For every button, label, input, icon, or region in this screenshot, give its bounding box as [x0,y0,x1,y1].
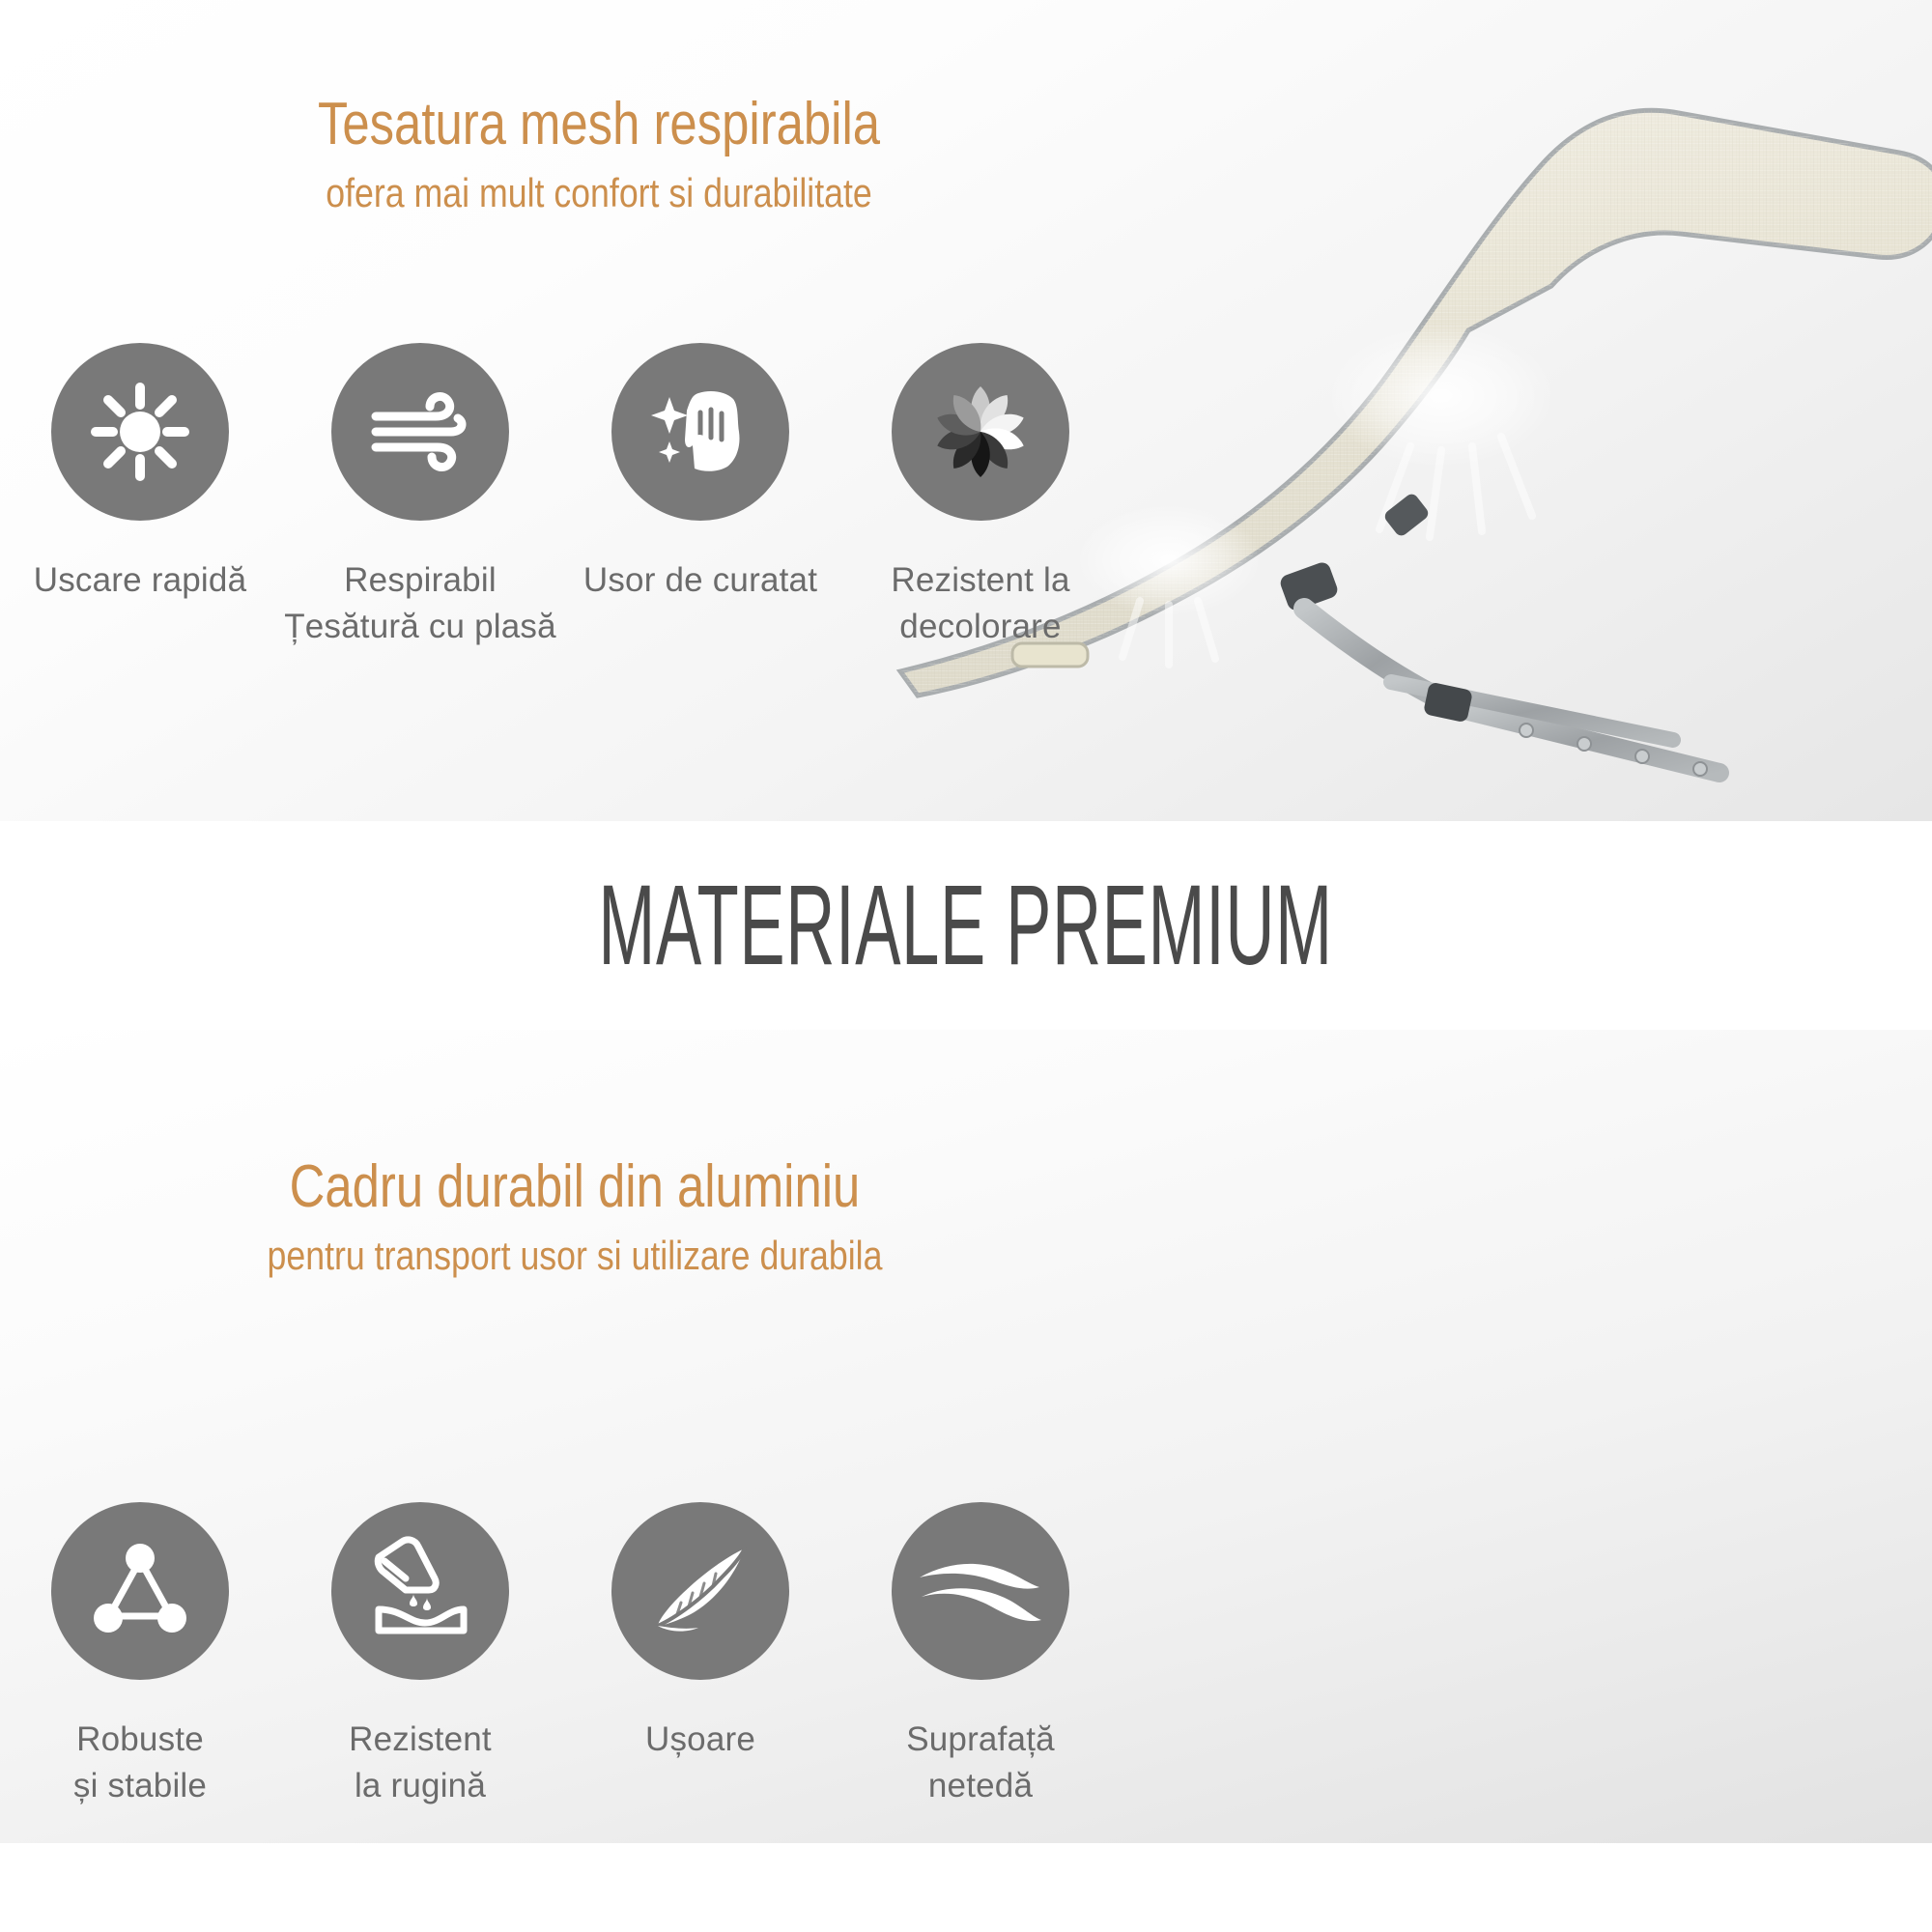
feature-label: Rezistent la decolorare [891,557,1069,649]
feature-label: Ușoare [645,1717,755,1763]
smooth-wave-icon [892,1502,1069,1680]
feather-icon [611,1502,789,1680]
section-fabric: Tesatura mesh respirabila ofera mai mult… [0,0,1932,821]
premium-materials-banner: MATERIALE PREMIUM [0,821,1932,1030]
feature-robuste-si-stabile: Robuste și stabile [0,1502,280,1808]
fabric-feature-row: Uscare rapidă Respirabil Țesătură cu pla… [0,343,1121,649]
sun-icon [51,343,229,521]
feature-respirabil: Respirabil Țesătură cu plasă [280,343,560,649]
fabric-heading-block: Tesatura mesh respirabila ofera mai mult… [0,93,1198,215]
feature-usoare: Ușoare [560,1502,840,1808]
feature-suprafata-neteda: Suprafață netedă [840,1502,1121,1808]
feature-label: Respirabil Țesătură cu plasă [284,557,556,649]
feature-usor-de-curatat: Usor de curatat [560,343,840,649]
infographic-canvas: Tesatura mesh respirabila ofera mai mult… [0,0,1932,1932]
frame-feature-row: Robuste și stabile Rezistent la rugină [0,1502,1121,1808]
feature-rezistent-la-decolorare: Rezistent la decolorare [840,343,1121,649]
fabric-title: Tesatura mesh respirabila [108,93,1091,157]
feature-label: Usor de curatat [583,557,817,604]
test-tube-drip-icon [331,1502,509,1680]
color-wheel-icon [892,343,1069,521]
hand-wipe-icon [611,343,789,521]
frame-title: Cadru durabil din aluminiu [103,1155,1046,1220]
frame-heading-block: Cadru durabil din aluminiu pentru transp… [0,1155,1150,1278]
frame-subtitle: pentru transport usor si utilizare durab… [86,1234,1064,1278]
feature-rezistent-la-rugina: Rezistent la rugină [280,1502,560,1808]
banner-title: MATERIALE PREMIUM [599,860,1333,991]
feature-label: Rezistent la rugină [349,1717,492,1808]
fabric-subtitle: ofera mai mult confort si durabilitate [90,171,1108,215]
wind-icon [331,343,509,521]
feature-label: Suprafață netedă [906,1717,1055,1808]
feature-label: Uscare rapidă [34,557,246,604]
feature-label: Robuste și stabile [73,1717,207,1808]
section-frame: Cadru durabil din aluminiu pentru transp… [0,1030,1932,1843]
feature-uscare-rapida: Uscare rapidă [0,343,280,649]
triangle-nodes-icon [51,1502,229,1680]
